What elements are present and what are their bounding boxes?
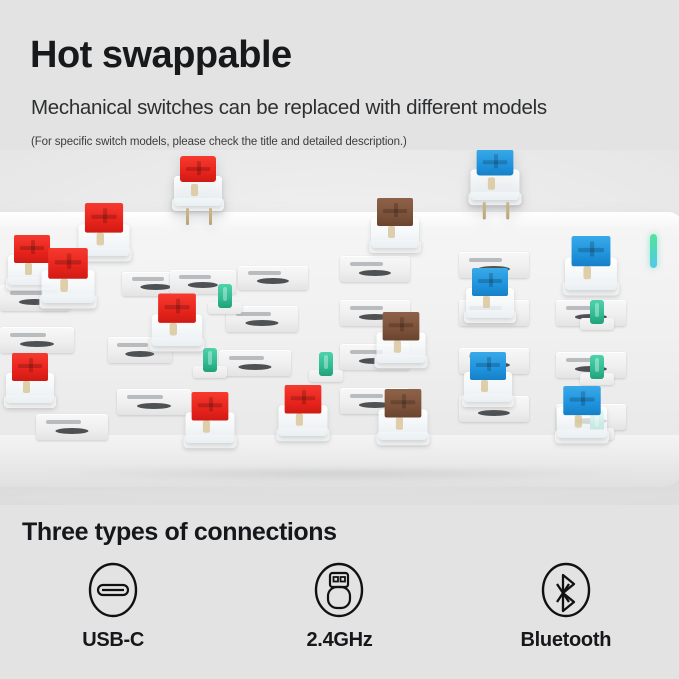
usb-dongle-icon <box>311 562 367 618</box>
page-title: Hot swappable <box>30 36 292 74</box>
subtitle: Mechanical switches can be replaced with… <box>31 96 547 120</box>
connection-label: Bluetooth <box>521 629 612 652</box>
status-led-indicator <box>650 234 657 268</box>
mechanical-switch-blue <box>555 386 609 438</box>
connection-item-usb-c: USB-C <box>0 562 226 652</box>
hotswap-socket <box>117 389 191 415</box>
bluetooth-icon <box>538 562 594 618</box>
stabilizer-insert <box>197 348 223 374</box>
connection-item-2-4ghz: 2.4GHz <box>226 562 452 652</box>
mechanical-switch-brown <box>369 198 421 248</box>
connection-label: USB-C <box>82 629 144 652</box>
mechanical-switch-brown <box>374 312 427 363</box>
mechanical-switch-blue <box>468 150 521 200</box>
mechanical-switch-blue <box>563 236 619 290</box>
stabilizer-insert <box>584 355 610 381</box>
stabilizer-insert <box>584 300 610 326</box>
mechanical-switch-red <box>39 248 96 303</box>
usb-c-icon <box>85 562 141 618</box>
mechanical-switch-blue <box>462 352 514 402</box>
product-feature-image: Hot swappable Mechanical switches can be… <box>0 0 679 679</box>
hotswap-socket <box>219 350 291 376</box>
mechanical-switch-brown <box>376 389 429 440</box>
stabilizer-insert <box>313 352 339 378</box>
hotswap-socket <box>238 266 308 290</box>
mechanical-switch-red <box>4 353 56 403</box>
connection-item-bluetooth: Bluetooth <box>453 562 679 652</box>
hotswap-socket <box>36 414 108 440</box>
mechanical-switch-red <box>150 294 205 347</box>
hotswap-socket <box>0 327 74 353</box>
mechanical-switch-red <box>183 392 236 443</box>
keyboard-product-photo <box>0 150 679 505</box>
keyboard-drop-shadow <box>10 470 670 486</box>
hotswap-socket <box>340 256 410 282</box>
stabilizer-insert <box>212 284 238 310</box>
connections-heading: Three types of connections <box>22 518 337 547</box>
mechanical-switch-red <box>172 156 224 206</box>
connection-label: 2.4GHz <box>306 629 372 652</box>
connections-row: USB-C 2.4GHz <box>0 562 679 652</box>
disclaimer-note: (For specific switch models, please chec… <box>31 136 407 148</box>
mechanical-switch-red <box>276 385 329 436</box>
mechanical-switch-blue <box>464 268 516 318</box>
